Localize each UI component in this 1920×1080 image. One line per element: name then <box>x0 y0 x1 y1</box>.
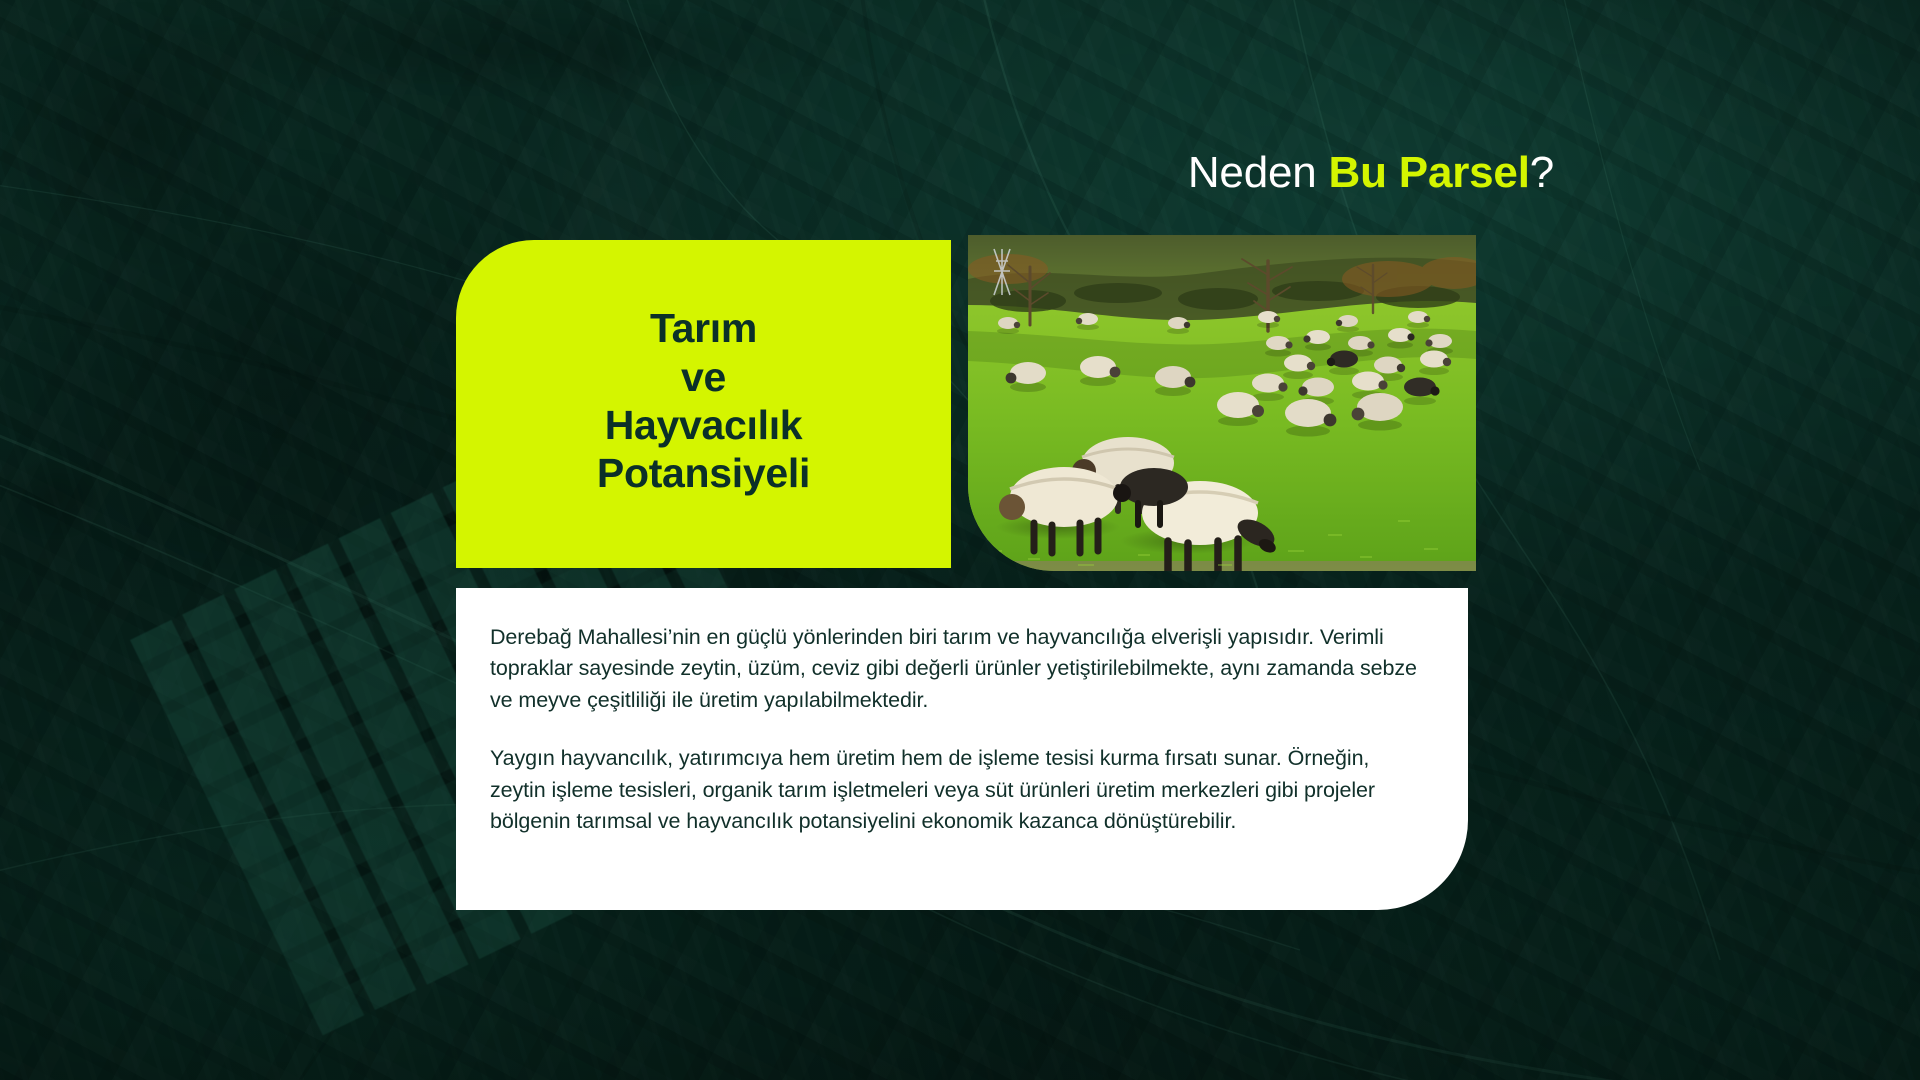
description-paragraph-1: Derebağ Mahallesi’nin en güçlü yönlerind… <box>490 622 1426 716</box>
lime-card-title: Tarım ve Hayvacılık Potansiyeli <box>597 304 810 504</box>
page-title-lead: Neden <box>1188 148 1329 197</box>
pasture-illustration <box>968 235 1476 571</box>
page-title: Neden Bu Parsel? <box>1188 151 1554 195</box>
lime-title-card: Tarım ve Hayvacılık Potansiyeli <box>456 240 951 568</box>
description-paragraph-2: Yaygın hayvancılık, yatırımcıya hem üret… <box>490 743 1426 837</box>
page-title-tail: ? <box>1530 148 1554 197</box>
sheep-flock-pasture-photo <box>968 235 1476 571</box>
slide-root: Neden Bu Parsel? Tarım ve Hayvacılık Pot… <box>0 0 1920 1080</box>
vignette-overlay <box>0 0 1920 1080</box>
description-panel: Derebağ Mahallesi’nin en güçlü yönlerind… <box>456 588 1468 910</box>
page-title-accent: Bu Parsel <box>1329 148 1530 197</box>
